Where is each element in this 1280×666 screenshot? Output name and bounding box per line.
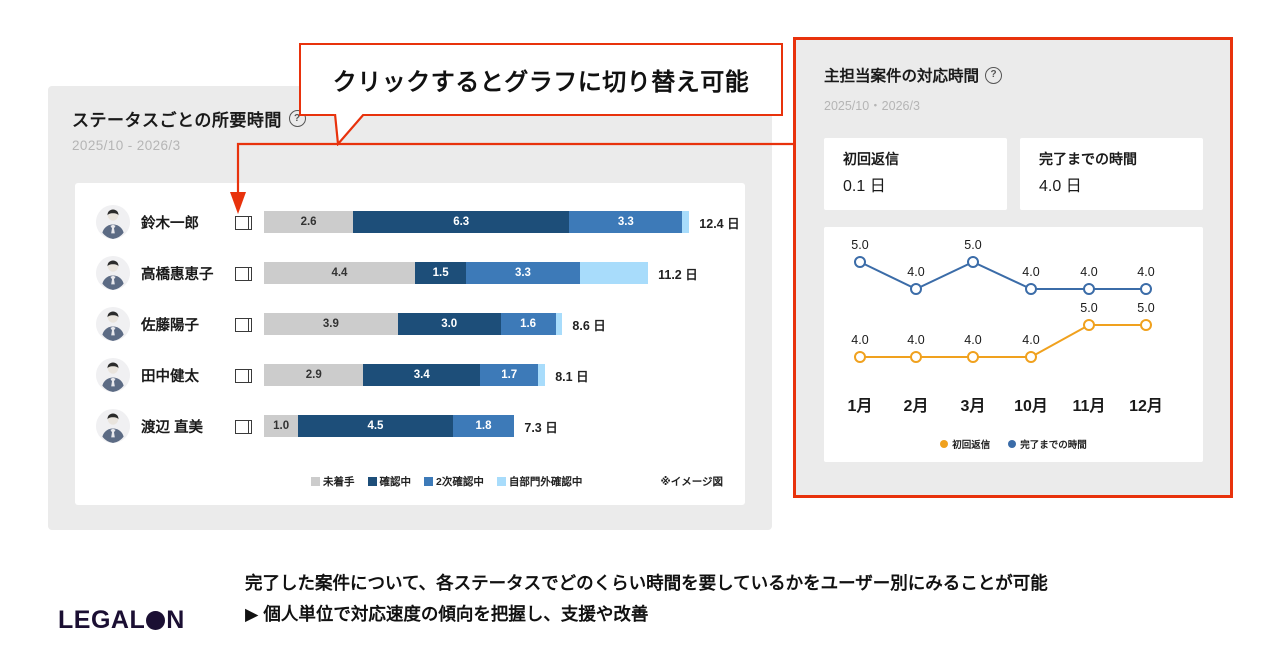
logo-circle-icon: [146, 611, 165, 630]
stacked-bar[interactable]: 1.04.51.8: [264, 415, 514, 437]
left-panel-title: ステータスごとの所要時間 ?: [72, 106, 306, 131]
question-icon[interactable]: ?: [985, 67, 1002, 84]
data-point-marker[interactable]: [855, 257, 865, 267]
data-point-label: 4.0: [1137, 265, 1154, 279]
row-user-name: 高橋惠恵子: [141, 263, 233, 284]
legend-item[interactable]: 完了までの時間: [1008, 437, 1087, 451]
data-point-label: 4.0: [1080, 265, 1097, 279]
x-axis-tick-label: 10月: [1014, 392, 1048, 416]
stacked-bar[interactable]: 2.93.41.7: [264, 364, 545, 386]
row-total: 7.3 日: [524, 417, 557, 436]
x-axis-tick-label: 12月: [1129, 392, 1163, 416]
data-point-label: 5.0: [964, 238, 981, 252]
row-total: 11.2 日: [658, 264, 698, 283]
row-user-name: 田中健太: [141, 365, 233, 386]
bar-segment[interactable]: 4.5: [298, 415, 452, 437]
left-panel-subtitle: 2025/10 - 2026/3: [72, 138, 181, 153]
slide-canvas: ステータスごとの所要時間 ? 2025/10 - 2026/3 鈴木一郎2.66…: [0, 0, 1280, 666]
logo-text-before: LEGAL: [58, 606, 145, 635]
bar-segment[interactable]: 3.9: [264, 313, 398, 335]
data-point-label: 5.0: [1080, 301, 1097, 315]
bar-segment[interactable]: 1.0: [264, 415, 298, 437]
legend-dot-icon: [1008, 440, 1016, 448]
data-point-marker[interactable]: [911, 352, 921, 362]
kpi-value: 4.0 日: [1039, 172, 1082, 196]
callout-connector-arrow: [230, 130, 830, 230]
avatar: [96, 205, 130, 239]
x-axis-tick-label: 1月: [848, 392, 873, 416]
avatar: [96, 358, 130, 392]
bar-chart-legend: 未着手確認中2次確認中自部門外確認中 ※イメージ図: [75, 474, 745, 489]
legend-label: 完了までの時間: [1020, 437, 1087, 451]
right-panel-title: 主担当案件の対応時間 ?: [824, 64, 1002, 86]
legend-item[interactable]: 初回返信: [940, 437, 990, 451]
bar-segment[interactable]: 1.8: [453, 415, 515, 437]
legend-item[interactable]: 2次確認中: [424, 474, 484, 489]
line-series-path: [860, 325, 1146, 357]
legend-label: 未着手: [323, 474, 355, 489]
data-point-marker[interactable]: [855, 352, 865, 362]
kpi-value: 0.1 日: [843, 172, 886, 196]
legend-swatch: [497, 477, 506, 486]
bar-segment[interactable]: [538, 364, 545, 386]
legend-swatch: [311, 477, 320, 486]
right-panel-title-text: 主担当案件の対応時間: [824, 64, 979, 86]
footer-line-1: 完了した案件について、各ステータスでどのくらい時間を要しているかをユーザー別にみ…: [245, 568, 1245, 599]
legend-swatch: [368, 477, 377, 486]
bar-segment[interactable]: 3.4: [363, 364, 480, 386]
legend-dot-icon: [940, 440, 948, 448]
data-point-marker[interactable]: [1026, 352, 1036, 362]
data-point-marker[interactable]: [1141, 284, 1151, 294]
checkbox-icon[interactable]: [235, 419, 252, 434]
checkbox-icon[interactable]: [235, 368, 252, 383]
data-point-label: 4.0: [1022, 265, 1039, 279]
data-point-marker[interactable]: [911, 284, 921, 294]
table-row[interactable]: 田中健太2.93.41.78.1 日: [75, 353, 745, 397]
kpi-label: 初回返信: [843, 149, 899, 169]
data-point-label: 4.0: [1022, 333, 1039, 347]
bar-segment[interactable]: 1.7: [480, 364, 538, 386]
row-user-name: 渡辺 直美: [141, 416, 233, 437]
legend-swatch: [424, 477, 433, 486]
image-note: ※イメージ図: [661, 474, 724, 489]
x-axis-tick-label: 2月: [904, 392, 929, 416]
bar-segment[interactable]: 3.3: [466, 262, 579, 284]
kpi-label: 完了までの時間: [1039, 149, 1137, 169]
avatar: [96, 409, 130, 443]
table-row[interactable]: 高橋惠恵子4.41.53.311.2 日: [75, 251, 745, 295]
left-panel-title-text: ステータスごとの所要時間: [72, 106, 282, 131]
bar-segment[interactable]: [556, 313, 563, 335]
footer-description: 完了した案件について、各ステータスでどのくらい時間を要しているかをユーザー別にみ…: [245, 568, 1245, 630]
line-series-path: [860, 262, 1146, 289]
footer-line-2: ▶ 個人単位で対応速度の傾向を把握し、支援や改善: [245, 599, 1245, 630]
stacked-bar[interactable]: 3.93.01.6: [264, 313, 562, 335]
bar-segment[interactable]: [580, 262, 649, 284]
row-total: 8.1 日: [555, 366, 588, 385]
right-panel-subtitle: 2025/10・2026/3: [824, 95, 920, 114]
data-point-label: 5.0: [851, 238, 868, 252]
legend-item[interactable]: 未着手: [311, 474, 355, 489]
legend-label: 確認中: [380, 474, 412, 489]
bar-segment[interactable]: 2.9: [264, 364, 363, 386]
row-user-name: 鈴木一郎: [141, 212, 233, 233]
line-chart-svg: 4.04.04.04.05.05.05.04.05.04.04.04.0: [824, 227, 1203, 462]
bar-chart-card: 鈴木一郎2.66.33.312.4 日高橋惠恵子4.41.53.311.2 日佐…: [75, 183, 745, 505]
checkbox-icon[interactable]: [235, 266, 252, 281]
row-user-name: 佐藤陽子: [141, 314, 233, 335]
x-axis-tick-label: 3月: [961, 392, 986, 416]
data-point-label: 4.0: [907, 333, 924, 347]
bar-segment[interactable]: 4.4: [264, 262, 415, 284]
kpi-card-time-to-completion: 完了までの時間 4.0 日: [1020, 138, 1203, 210]
data-point-label: 4.0: [964, 333, 981, 347]
data-point-label: 4.0: [907, 265, 924, 279]
bar-segment[interactable]: 3.0: [398, 313, 501, 335]
data-point-marker[interactable]: [1141, 320, 1151, 330]
bar-segment[interactable]: 1.6: [501, 313, 556, 335]
data-point-label: 5.0: [1137, 301, 1154, 315]
data-point-label: 4.0: [851, 333, 868, 347]
checkbox-icon[interactable]: [235, 317, 252, 332]
line-chart-card: 4.04.04.04.05.05.05.04.05.04.04.04.0 1月2…: [824, 227, 1203, 462]
stacked-bar[interactable]: 4.41.53.3: [264, 262, 648, 284]
data-point-marker[interactable]: [1026, 284, 1036, 294]
data-point-marker[interactable]: [1084, 284, 1094, 294]
callout-text: クリックするとグラフに切り替え可能: [333, 62, 750, 97]
logo-text-after: N: [166, 606, 185, 635]
legend-label: 初回返信: [952, 437, 990, 451]
main-assignee-response-time-panel: 主担当案件の対応時間 ? 2025/10・2026/3 初回返信 0.1 日 完…: [793, 37, 1233, 498]
bar-segment[interactable]: 1.5: [415, 262, 466, 284]
row-total: 8.6 日: [572, 315, 605, 334]
x-axis-tick-label: 11月: [1073, 392, 1106, 416]
table-row[interactable]: 渡辺 直美1.04.51.87.3 日: [75, 404, 745, 448]
kpi-card-first-reply: 初回返信 0.1 日: [824, 138, 1007, 210]
legend-label: 自部門外確認中: [509, 474, 583, 489]
legalon-logo: LEGAL N: [58, 606, 185, 635]
avatar: [96, 256, 130, 290]
data-point-marker[interactable]: [968, 257, 978, 267]
table-row[interactable]: 佐藤陽子3.93.01.68.6 日: [75, 302, 745, 346]
callout-box: クリックするとグラフに切り替え可能: [299, 43, 783, 116]
data-point-marker[interactable]: [968, 352, 978, 362]
avatar: [96, 307, 130, 341]
legend-label: 2次確認中: [436, 474, 484, 489]
line-chart-legend: 初回返信完了までの時間: [824, 437, 1203, 451]
data-point-marker[interactable]: [1084, 320, 1094, 330]
legend-item[interactable]: 自部門外確認中: [497, 474, 583, 489]
legend-item[interactable]: 確認中: [368, 474, 412, 489]
